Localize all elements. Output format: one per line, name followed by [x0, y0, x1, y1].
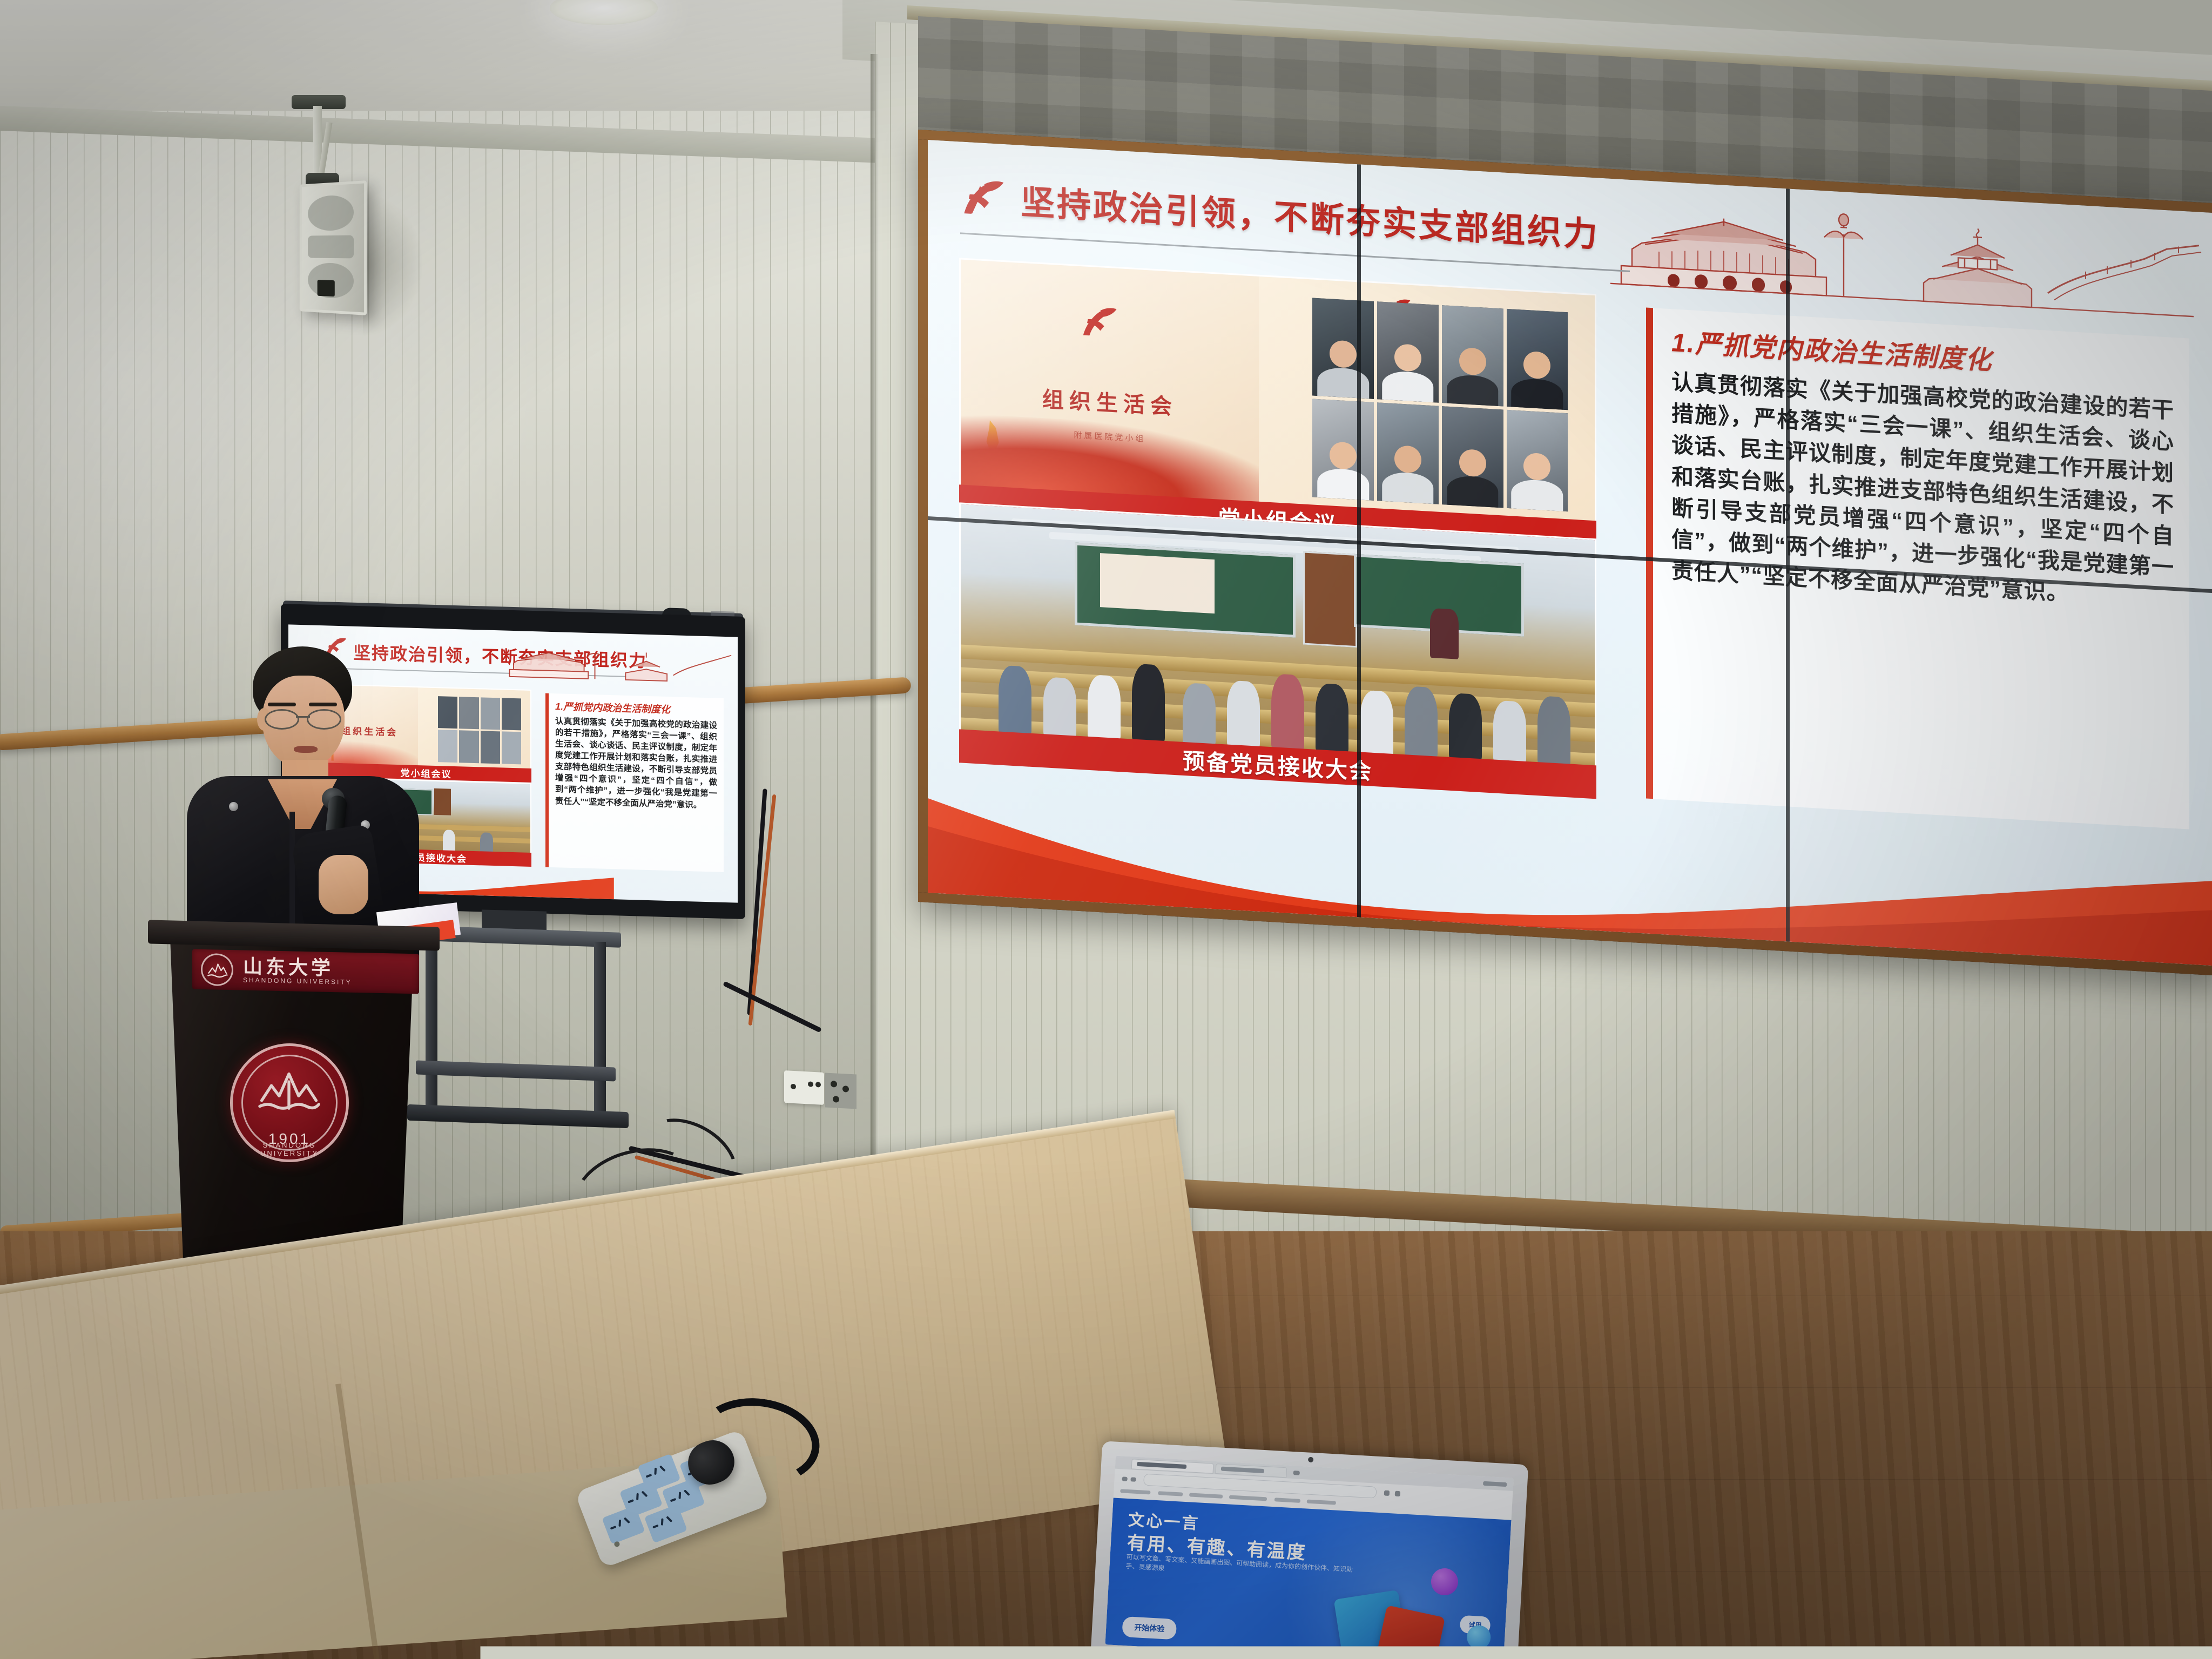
participant-tile [1377, 301, 1439, 403]
glasses-icon [265, 709, 341, 727]
lectern-seal-icon [201, 953, 233, 986]
door [1303, 551, 1357, 648]
participant-tile [1507, 308, 1568, 410]
party-emblem-icon [960, 174, 1007, 219]
speaker-logo [318, 280, 335, 296]
tv-text-heading: 1.严抓党内政治生活制度化 [555, 699, 717, 717]
participant-tile [1442, 305, 1503, 407]
classroom-photo [961, 504, 1595, 767]
participant-tile [1377, 403, 1439, 504]
participant-tile [1312, 399, 1374, 501]
party-emblem-icon [1080, 302, 1119, 340]
lectern-nameplate: 山东大学 SHANDONG UNIVERSITY [192, 949, 419, 994]
participant-tile [1442, 406, 1503, 508]
lectern-plaque-english: SHANDONG UNIVERSITY [243, 976, 352, 986]
emblem-arc-text: SHANDONG UNIVERSITY [233, 1141, 346, 1157]
participant-tile [1507, 410, 1568, 511]
wall-corner-seam [871, 54, 879, 1242]
speaker-shadow [363, 194, 422, 335]
slide-photo-column: 组织生活会 附属医院党小组 [959, 258, 1596, 809]
wall-speaker [300, 180, 367, 315]
slide-text-body: 认真贯彻落实《关于加强高校党的政治建设的若干措施》，严格落实“三会一课”、组织生… [1671, 366, 2174, 615]
mountain-water-emblem-icon [205, 957, 229, 982]
start-experience-button[interactable]: 开始体验 [1122, 1616, 1177, 1640]
participant-grid [1312, 298, 1568, 511]
speaker-driver-top [308, 194, 354, 231]
lectern-plaque-chinese: 山东大学 [243, 957, 352, 979]
presenter-mouth [294, 746, 318, 753]
slide-title: 坚持政治引领，不断夯实支部组织力 [1021, 174, 1600, 257]
video-wall[interactable]: 坚持政治引领，不断夯实支部组织力 [918, 130, 2212, 976]
laptop[interactable]: 文心一言 有用、有趣、有温度 可以写文章、写文案、又能画画出图、可帮助阅读，成为… [1091, 1441, 1529, 1659]
skyline-illustration [501, 636, 733, 687]
photo-party-group-meeting: 组织生活会 附属医院党小组 [959, 258, 1596, 524]
laptop-screen[interactable]: 文心一言 有用、有趣、有温度 可以写文章、写文案、又能画画出图、可帮助阅读，成为… [1105, 1456, 1513, 1659]
wall-power-outlet-metal[interactable] [825, 1073, 857, 1109]
tv-stand-tray-bottom [416, 1061, 616, 1082]
university-emblem: 1901 SHANDONG UNIVERSITY [230, 1043, 349, 1162]
photo-probationary-member-ceremony [959, 502, 1596, 768]
participant-tile [1312, 298, 1374, 399]
wall-power-outlet[interactable] [784, 1070, 824, 1105]
video-wall-screens[interactable]: 坚持政治引领，不断夯实支部组织力 [928, 140, 2212, 966]
slide-text-panel: 1.严抓党内政治生活制度化 认真贯彻落实《关于加强高校党的政治建设的若干措施》，… [1646, 308, 2189, 829]
video-conference-grid [1259, 276, 1595, 522]
emblem-mountain-icon [246, 1062, 332, 1127]
presenter-hand [319, 855, 368, 914]
projector-screen [1100, 553, 1214, 614]
tv-text-panel: 1.严抓党内政治生活制度化 认真贯彻落实《关于加强高校党的政治建设的若干措施》，… [545, 693, 724, 872]
speaker-driver-mid [308, 235, 354, 258]
ceiling [0, 0, 929, 130]
ernie-bot-hero: 文心一言 有用、有趣、有温度 可以写文章、写文案、又能画画出图、可帮助阅读，成为… [1105, 1498, 1511, 1659]
meeting-room-photo: 坚持政治引领，不断夯实支部组织力 [0, 0, 2212, 1659]
poster-organizational-life-meeting: 组织生活会 附属医院党小组 [961, 259, 1259, 503]
tv-text-body: 认真贯彻落实《关于加强高校党的政治建设的若干措施》，严格落实“三会一课”、组织生… [555, 716, 717, 811]
power-indicator-led [613, 1541, 621, 1548]
